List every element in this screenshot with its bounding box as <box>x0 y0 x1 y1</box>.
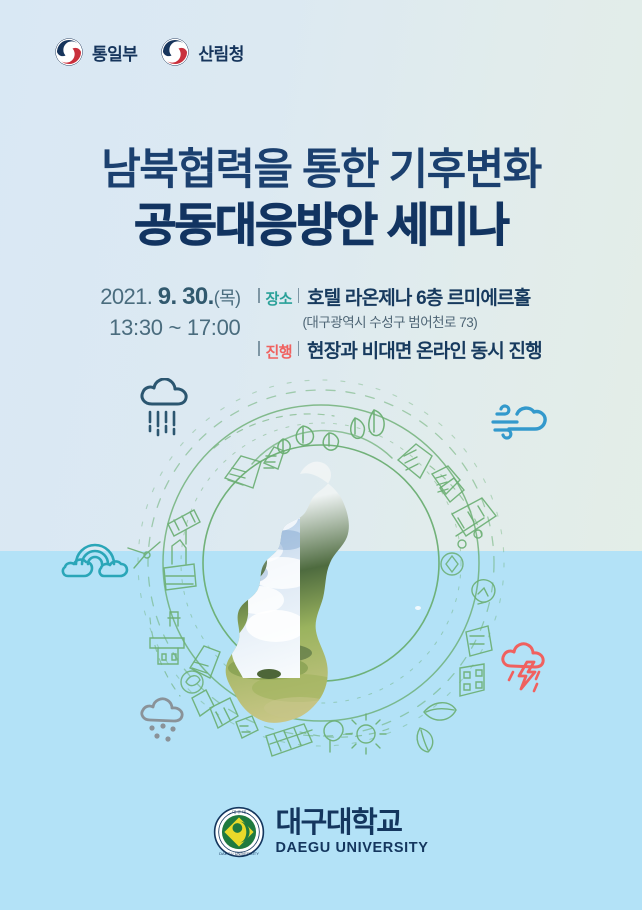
venue-address: (대구광역시 수성구 범어천로 73) <box>302 311 541 331</box>
event-venue: 장소 호텔 라온제나 6층 르미에르홀 (대구광역시 수성구 범어천로 73) … <box>258 281 541 363</box>
title-line-1: 남북협력을 통한 기후변화 <box>0 148 642 194</box>
korea-forest-service-label: 산림청 <box>198 40 243 65</box>
thunderstorm-icon <box>497 636 555 696</box>
government-logos: 통일부 산림청 <box>53 36 244 68</box>
event-weekday: (목) <box>214 288 241 308</box>
mode-tag: 진행 <box>258 341 299 362</box>
taegeuk-icon <box>53 36 85 68</box>
south-korea-landscape-photo <box>180 428 480 738</box>
event-day: 30. <box>182 283 214 310</box>
university-name-en: DAEGU UNIVERSITY <box>275 841 428 856</box>
event-year: 2021. <box>100 284 152 309</box>
mode-line: 진행 현장과 비대면 온라인 동시 진행 <box>258 336 541 363</box>
university-name-ko: 대구대학교 <box>275 809 428 838</box>
ministry-of-unification-label: 통일부 <box>92 40 137 65</box>
poster-canvas: 통일부 산림청 남북협력을 통한 기후변화 공동대응방안 세미나 2021. 9… <box>0 0 642 910</box>
event-info: 2021. 9. 30.(목) 13:30 ~ 17:00 장소 호텔 라온제나… <box>0 281 642 363</box>
ulleung-island <box>415 606 421 610</box>
ministry-of-unification-logo: 통일부 <box>53 36 137 68</box>
wind-cloud-icon <box>487 404 551 446</box>
svg-text:DAEGU UNIVERSITY: DAEGU UNIVERSITY <box>220 851 260 856</box>
korean-peninsula-map <box>180 428 480 738</box>
daegu-university-logo: 대 구 대 DAEGU UNIVERSITY 대구대학교 DAEGU UNIVE… <box>0 806 642 858</box>
event-month: 9. <box>158 283 177 310</box>
rain-cloud-icon <box>136 378 194 440</box>
venue-line: 장소 호텔 라온제나 6층 르미에르홀 <box>258 283 541 310</box>
jeju-island <box>257 669 281 679</box>
venue-tag: 장소 <box>258 288 299 309</box>
taegeuk-icon <box>159 36 191 68</box>
poster-title: 남북협력을 통한 기후변화 공동대응방안 세미나 <box>0 148 642 250</box>
university-name: 대구대학교 DAEGU UNIVERSITY <box>275 809 428 856</box>
event-date: 2021. 9. 30.(목) <box>100 282 240 312</box>
event-datetime: 2021. 9. 30.(목) 13:30 ~ 17:00 <box>100 281 240 343</box>
svg-text:대 구 대: 대 구 대 <box>233 808 247 814</box>
event-time: 13:30 ~ 17:00 <box>100 314 240 343</box>
snow-cloud-icon <box>136 694 194 746</box>
venue-name: 호텔 라온제나 6층 르미에르홀 <box>307 283 530 310</box>
title-line-2: 공동대응방안 세미나 <box>0 200 642 251</box>
daegu-university-emblem: 대 구 대 DAEGU UNIVERSITY <box>213 806 265 858</box>
rainbow-cloud-icon <box>58 532 132 582</box>
mode-value: 현장과 비대면 온라인 동시 진행 <box>307 336 542 363</box>
korea-forest-service-logo: 산림청 <box>159 36 243 68</box>
